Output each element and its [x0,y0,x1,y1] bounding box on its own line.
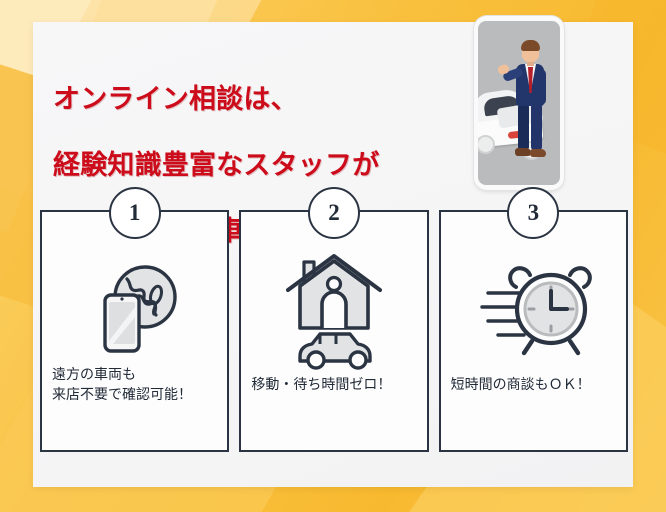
alarm-clock-speed-icon [441,242,626,372]
salesman-shoe [515,148,531,156]
salesman-shoe [530,149,546,157]
salesman-leg [531,104,542,150]
salesman-leg [518,104,529,150]
headline-line-2: 経験知識豊富なスタッフが [53,149,407,182]
car-wheel [478,135,495,154]
step-badge-3: 3 [507,187,559,239]
benefit-card-1: 1 遠方の車両も 来店不要で確認可能！ [40,210,229,452]
benefit-card-3: 3 短時間の商談もＯＫ！ [439,210,628,452]
salesman-arm [536,69,546,105]
benefit-card-3-text: 短時間の商談もＯＫ！ [451,374,620,394]
globe-smartphone-icon [42,242,227,372]
step-badge-1: 1 [109,187,161,239]
phone-screen [478,21,560,185]
benefit-card-list: 1 遠方の車両も 来店不要で確認可能！ 2 [40,210,628,452]
benefit-card-1-text: 遠方の車両も 来店不要で確認可能！ [52,364,221,404]
promo-banner: オンライン相談は、 経験知識豊富なスタッフが ビデオ通話で車両をご案内！ [0,0,666,512]
benefit-card-2: 2 移動・待ち時間ゼロ！ [239,210,428,452]
salesman-hair [521,40,540,51]
benefit-card-2-text: 移動・待ち時間ゼロ！ [251,374,420,394]
step-badge-2: 2 [308,187,360,239]
house-car-icon [241,242,426,372]
phone-mockup [474,16,564,190]
headline-line-1: オンライン相談は、 [53,83,407,116]
